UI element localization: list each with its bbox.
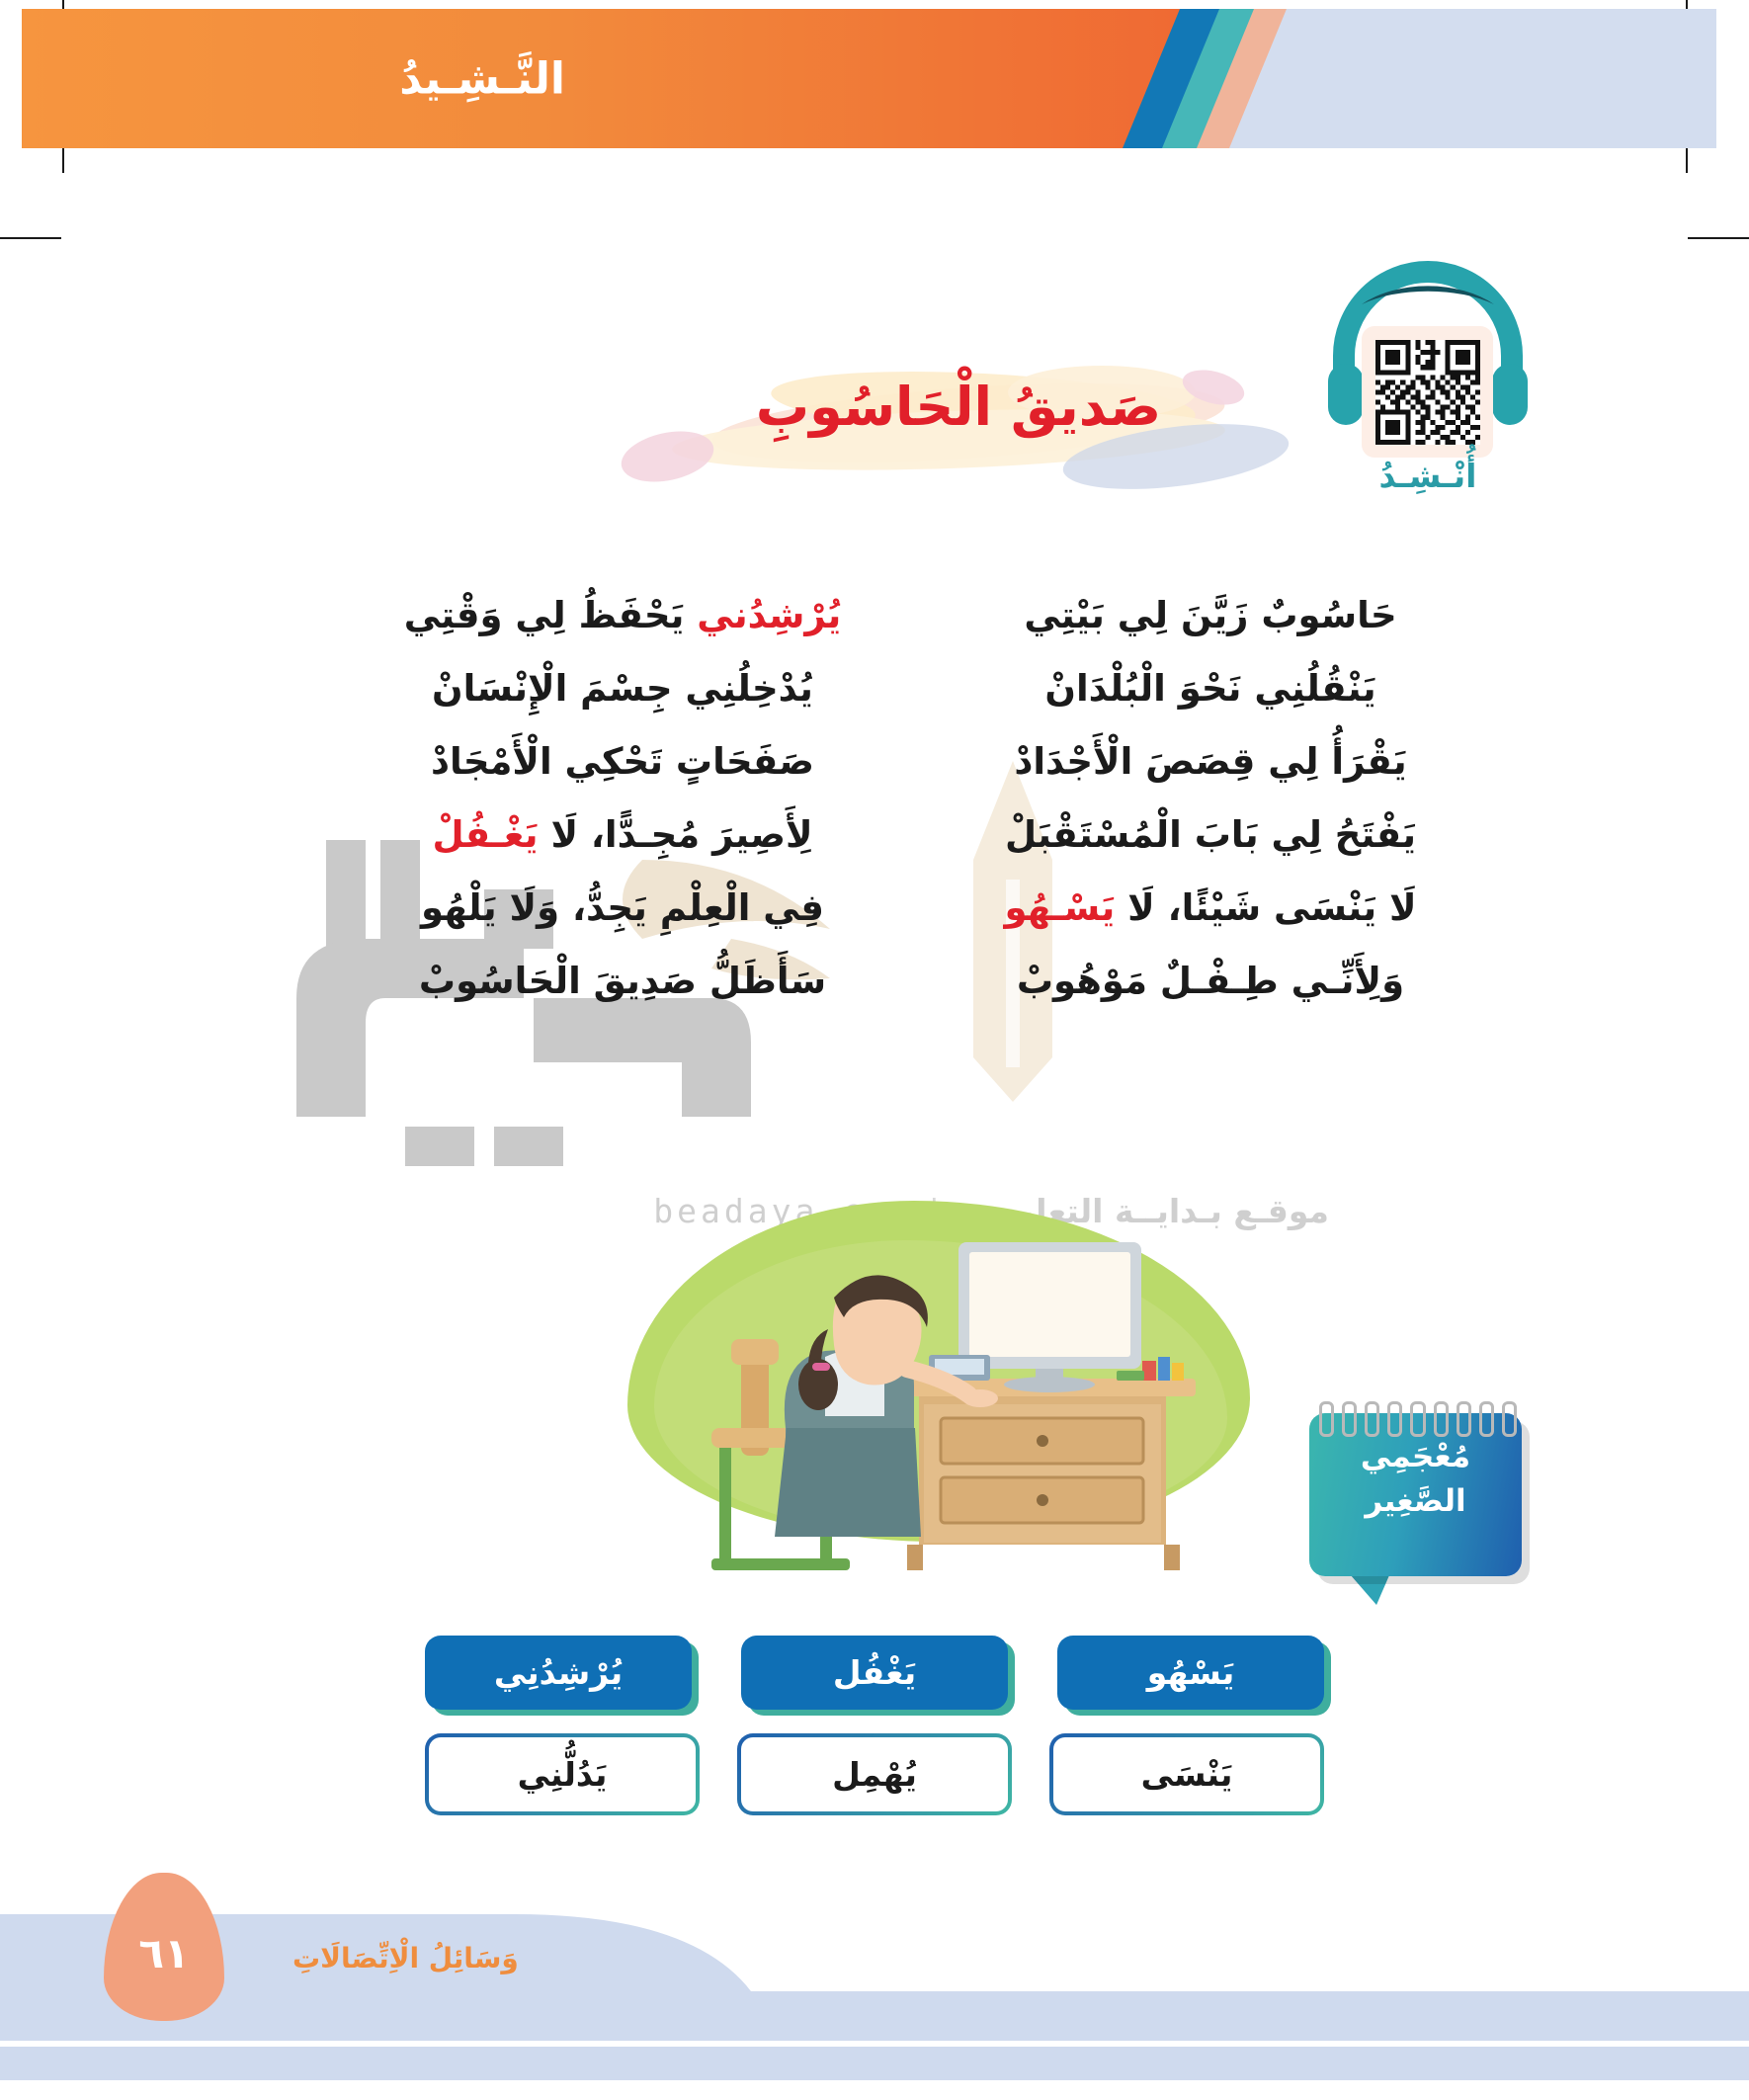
- crop-mark-left-horizontal: [0, 237, 61, 239]
- poem-title: صَديقُ الْحَاسُوبِ: [613, 376, 1304, 438]
- word-chip-yansa[interactable]: يَنْسَى: [1049, 1733, 1324, 1815]
- word-chip-yurshiduni[interactable]: يُرْشِدُنِي: [425, 1636, 692, 1710]
- girl-at-computer-desk-illustration: [593, 1181, 1285, 1596]
- poem-verse: حَاسُوبٌ زَيَّنَ لِي بَيْتِي يُرْشِدُني …: [326, 593, 1502, 666]
- dictionary-label-line1: مُعْجَمِي: [1309, 1435, 1522, 1479]
- page-number-badge: ٦١: [104, 1873, 224, 2021]
- poem-keyword: يُرْشِدُني: [697, 594, 841, 636]
- poem-verse: يَقْرَأُ لِي قِصَصَ الْأَجْدَادْ صَفَحَا…: [326, 739, 1502, 812]
- audio-qr-block[interactable]: أُنْـشِـدُ: [1324, 247, 1532, 544]
- dictionary-callout: مُعْجَمِي الصَّغِير: [1309, 1401, 1539, 1594]
- poem-title-block: صَديقُ الْحَاسُوبِ: [613, 366, 1304, 494]
- poem-hemistich-left: فِي الْعِلْمِ يَجِدُّ، وَلَا يَلْهُو: [326, 885, 919, 931]
- poem-text: لَا يَنْسَى شَيْئًا، لَا: [1115, 886, 1416, 929]
- page-number: ٦١: [104, 1873, 224, 2021]
- poem-hemistich-left: لِأَصِيرَ مُجِـدًّا، لَا يَغْـفُلْ: [326, 812, 919, 858]
- word-chip-yaghful[interactable]: يَغْفُل: [741, 1636, 1008, 1710]
- page-title: النَّـشِـيدُ: [399, 53, 565, 104]
- notebook-rings-icon: [1319, 1401, 1517, 1435]
- qr-code-card[interactable]: [1362, 326, 1493, 458]
- poem-hemistich-right: يَنْقُلُنِي نَحْوَ الْبُلْدَانْ: [919, 666, 1502, 712]
- poem-hemistich-left: صَفَحَاتٍ تَحْكِي الْأَمْجَادْ: [326, 739, 919, 785]
- poem-hemistich-right: حَاسُوبٌ زَيَّنَ لِي بَيْتِي: [919, 593, 1502, 638]
- poem-text: يَحْفَظُ لِي وَقْتِي: [404, 594, 698, 636]
- word-bank: يَسْهُو يَغْفُل يُرْشِدُنِي يَنْسَى يُهْ…: [425, 1636, 1324, 1839]
- poem-verse: لَا يَنْسَى شَيْئًا، لَا يَسْـهُو فِي ال…: [326, 885, 1502, 959]
- poem-hemistich-right: لَا يَنْسَى شَيْئًا، لَا يَسْـهُو: [919, 885, 1502, 931]
- textbook-page: النَّـشِـيدُ: [0, 0, 1749, 2100]
- poem-verse: وَلِأَنِّـي طِـفْـلٌ مَوْهُوبْ سَأَظَلُّ…: [326, 959, 1502, 1032]
- crop-mark-right-horizontal: [1688, 237, 1749, 239]
- dictionary-label: مُعْجَمِي الصَّغِير: [1309, 1435, 1522, 1524]
- page-header-banner: النَّـشِـيدُ: [22, 9, 1716, 148]
- poem-verse: يَنْقُلُنِي نَحْوَ الْبُلْدَانْ يُدْخِلُ…: [326, 666, 1502, 739]
- word-bank-row-filled: يَسْهُو يَغْفُل يُرْشِدُنِي: [425, 1636, 1324, 1710]
- poem-hemistich-right: وَلِأَنِّـي طِـفْـلٌ مَوْهُوبْ: [919, 959, 1502, 1004]
- dictionary-label-line2: الصَّغِير: [1309, 1479, 1522, 1524]
- word-chip-yadulluni[interactable]: يَدُلُّنِي: [425, 1733, 700, 1815]
- poem-verse: يَفْتَحُ لِي بَابَ الْمُسْتَقْبَلْ لِأَص…: [326, 812, 1502, 885]
- qr-code-icon: [1375, 340, 1480, 445]
- poem-text: لِأَصِيرَ مُجِـدًّا، لَا: [539, 813, 813, 856]
- poem-hemistich-left: يُرْشِدُني يَحْفَظُ لِي وَقْتِي: [326, 593, 919, 638]
- word-bank-row-outline: يَنْسَى يُهْمِل يَدُلُّنِي: [425, 1733, 1324, 1815]
- poem-keyword: يَغْـفُلْ: [432, 813, 538, 856]
- audio-label: أُنْـشِـدُ: [1324, 457, 1532, 495]
- word-chip-yashu[interactable]: يَسْهُو: [1057, 1636, 1324, 1710]
- poem-verses: حَاسُوبٌ زَيَّنَ لِي بَيْتِي يُرْشِدُني …: [326, 593, 1502, 1032]
- header-band-orange: [22, 9, 1180, 148]
- footer-wave: [0, 1843, 1749, 2100]
- poem-keyword: يَسْـهُو: [1004, 886, 1115, 929]
- poem-hemistich-right: يَقْرَأُ لِي قِصَصَ الْأَجْدَادْ: [919, 739, 1502, 785]
- word-chip-yuhmil[interactable]: يُهْمِل: [737, 1733, 1012, 1815]
- illustration-figures: [593, 1181, 1285, 1596]
- poem-hemistich-left: يُدْخِلُنِي جِسْمَ الْإِنْسَانْ: [326, 666, 919, 712]
- poem-hemistich-left: سَأَظَلُّ صَدِيقَ الْحَاسُوبْ: [326, 959, 919, 1004]
- footer-section-title: وَسَائِلُ الْاِتِّصَالَاتِ: [292, 1942, 519, 1974]
- poem-hemistich-right: يَفْتَحُ لِي بَابَ الْمُسْتَقْبَلْ: [919, 812, 1502, 858]
